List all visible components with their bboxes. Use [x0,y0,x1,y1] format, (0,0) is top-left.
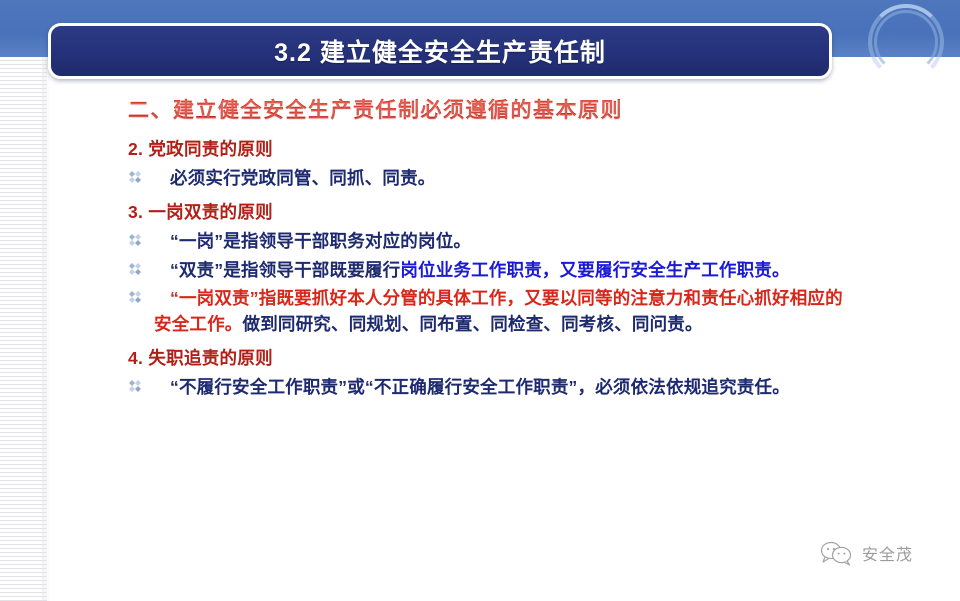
diamond-bullet-icon [128,166,154,183]
wechat-bubbles-icon [820,540,854,566]
principle-number-heading: 3. 一岗双责的原则 [128,201,844,224]
section-heading: 二、建立健全安全生产责任制必须遵循的基本原则 [128,98,844,124]
bullet-item: “不履行安全工作职责”或“不正确履行安全工作职责”，必须依法依规追究责任。 [128,375,844,401]
bullet-text: “双责”是指领导干部既要履行岗位业务工作职责，又要履行安全生产工作职责。 [154,258,844,284]
text-run-navy: 做到同研究、同规划、同布置、同检查、同考核、同问责。 [243,314,703,334]
diamond-bullet-icon [128,229,154,246]
bullet-item: “一岗双责”指既要抓好本人分管的具体工作，又要以同等的注意力和责任心抓好相应的安… [128,286,844,338]
bullet-text: “一岗双责”指既要抓好本人分管的具体工作，又要以同等的注意力和责任心抓好相应的安… [154,286,844,338]
left-stripe-decoration [0,57,47,601]
watermark-label: 安全茂 [862,541,913,565]
sections-container: 2. 党政同责的原则必须实行党政同管、同抓、同责。3. 一岗双责的原则“一岗”是… [128,138,844,401]
text-run-blue: 岗位业务工作职责，又要履行安全生产工作职责。 [400,260,789,280]
slide-content: 二、建立健全安全生产责任制必须遵循的基本原则 2. 党政同责的原则必须实行党政同… [128,98,844,404]
arc-decoration-inner-icon [874,10,938,74]
diamond-bullet-icon [128,258,154,275]
slide-title-text: 3.2 建立健全安全生产责任制 [274,33,606,69]
bullet-text: 必须实行党政同管、同抓、同责。 [154,166,844,192]
diamond-bullet-icon [128,375,154,392]
text-run-navy: “一岗”是指领导干部职务对应的岗位。 [170,231,471,251]
slide-canvas: 3.2 建立健全安全生产责任制 二、建立健全安全生产责任制必须遵循的基本原则 2… [0,0,960,601]
bullet-text: “一岗”是指领导干部职务对应的岗位。 [154,229,844,255]
text-run-navy: “不履行安全工作职责”或“不正确履行安全工作职责”，必须依法依规追究责任。 [170,377,790,397]
bullet-item: “双责”是指领导干部既要履行岗位业务工作职责，又要履行安全生产工作职责。 [128,258,844,284]
watermark: 安全茂 [820,540,913,566]
text-run-navy: “双责”是指领导干部既要履行 [170,260,400,280]
slide-title-bar: 3.2 建立健全安全生产责任制 [48,23,832,79]
diamond-bullet-icon [128,286,154,303]
bullet-text: “不履行安全工作职责”或“不正确履行安全工作职责”，必须依法依规追究责任。 [154,375,844,401]
principle-number-heading: 4. 失职追责的原则 [128,347,844,370]
bullet-item: “一岗”是指领导干部职务对应的岗位。 [128,229,844,255]
left-stripe-fade [42,57,50,601]
principle-number-heading: 2. 党政同责的原则 [128,138,844,161]
text-run-navy: 必须实行党政同管、同抓、同责。 [170,168,436,188]
bullet-item: 必须实行党政同管、同抓、同责。 [128,166,844,192]
